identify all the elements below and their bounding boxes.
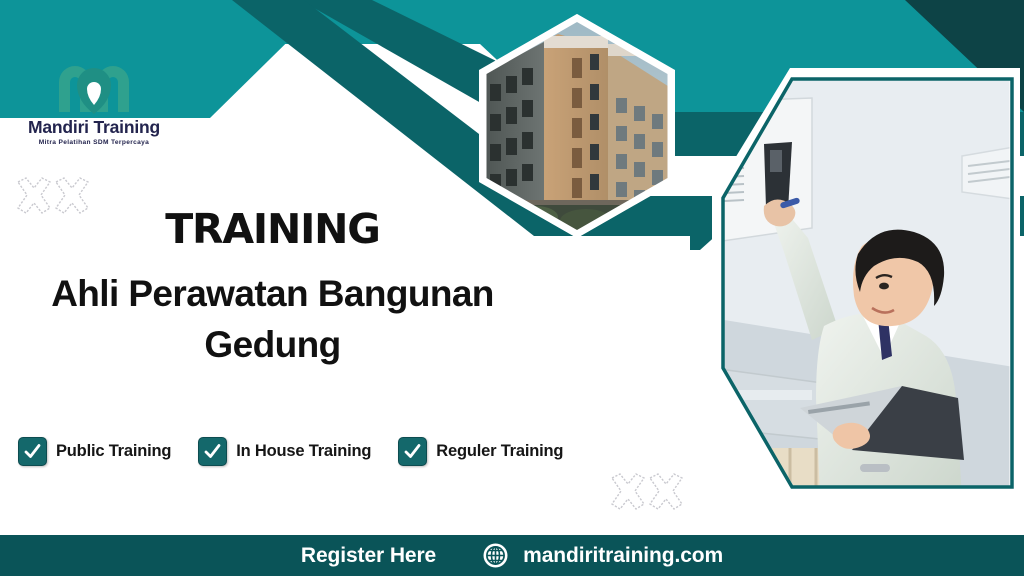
website-link[interactable]: mandiritraining.com [482,542,723,569]
checkbox-checked-icon[interactable] [398,437,427,466]
checkbox-checked-icon[interactable] [18,437,47,466]
register-cta[interactable]: Register Here [301,544,436,568]
page-title: Ahli Perawatan Bangunan Gedung [0,268,545,370]
mandiri-m-arches-logo-icon [51,58,137,114]
double-x-decoration-bottom [608,472,686,512]
training-type-label: Public Training [56,442,171,461]
brand-tagline: Mitra Pelatihan SDM Terpercaya [14,139,174,146]
training-type-label: Reguler Training [436,442,563,461]
poster-canvas: Mandiri Training Mitra Pelatihan SDM Ter… [0,0,1024,576]
globe-icon [482,542,509,569]
eyebrow-training: TRAINING [0,205,545,253]
training-type-public[interactable]: Public Training [18,437,171,466]
brand-logo[interactable]: Mandiri Training Mitra Pelatihan SDM Ter… [14,58,174,146]
website-url: mandiritraining.com [523,544,723,568]
training-types-row: Public Training In House Training Regule… [18,437,590,466]
training-type-reguler[interactable]: Reguler Training [398,437,563,466]
training-type-in-house[interactable]: In House Training [198,437,371,466]
footer-bar: Register Here mandiritraining.com [0,535,1024,576]
technician-photo-hexagon [712,68,1020,498]
checkbox-checked-icon[interactable] [198,437,227,466]
brand-name: Mandiri Training [14,118,174,136]
training-type-label: In House Training [236,442,371,461]
